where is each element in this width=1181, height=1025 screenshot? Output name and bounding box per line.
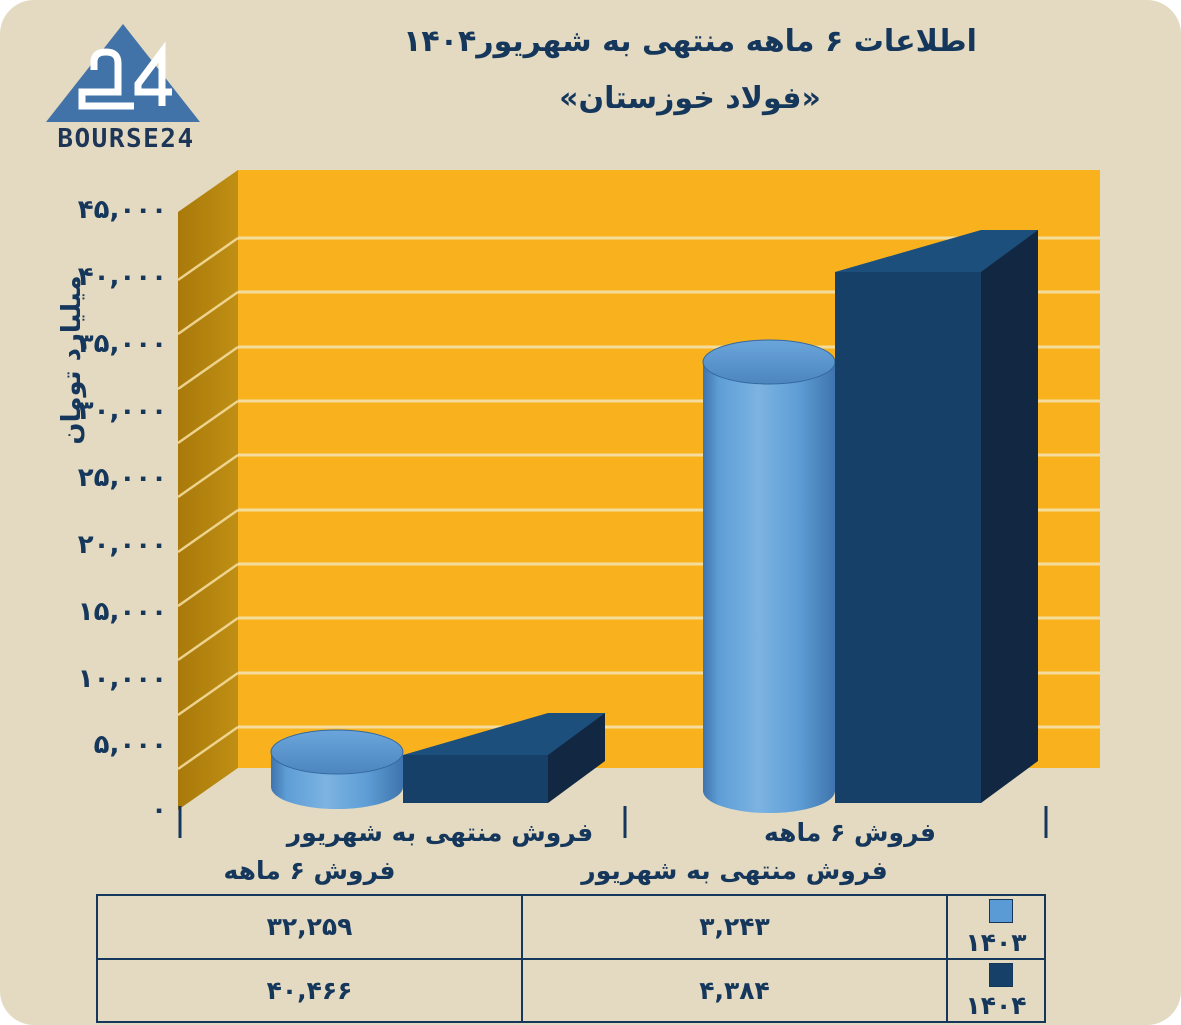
table-header-col-1: فروش ۶ ماهه	[97, 847, 522, 895]
legend-key-1404: ۱۴۰۴	[947, 959, 1045, 1023]
table-header-col-0: فروش منتهی به شهریور	[522, 847, 947, 895]
bar-1403-group1	[271, 730, 403, 809]
bar-1403-group2	[703, 340, 835, 813]
legend-label-1404: ۱۴۰۴	[965, 991, 1026, 1020]
cell-1404-sales-6month: ۴۰,۴۶۶	[97, 959, 522, 1023]
category-label-1: فروش ۶ ماهه	[650, 818, 1050, 847]
table-header-row: فروش منتهی به شهریور فروش ۶ ماهه	[97, 847, 1045, 895]
table-header-blank	[947, 847, 1045, 895]
bar-1404-group2	[835, 230, 1038, 803]
ytick-0: ۰	[0, 795, 167, 825]
cell-1403-sales-to-shahrivar: ۳,۲۴۳	[522, 895, 947, 959]
legend-key-1403: ۱۴۰۳	[947, 895, 1045, 959]
y-axis-title: میلیارد تومان	[57, 230, 87, 490]
chart-left-wall	[178, 170, 238, 810]
table-row: ۱۴۰۳ ۳,۲۴۳ ۳۲,۲۵۹	[97, 895, 1045, 959]
ytick-45000: ۴۵,۰۰۰	[0, 195, 167, 225]
chart-card: BOURSE24 اطلاعات ۶ ماهه منتهی به شهریور۱…	[0, 0, 1181, 1025]
category-label-0: فروش منتهی به شهریور	[230, 818, 650, 847]
ytick-20000: ۲۰,۰۰۰	[0, 530, 167, 560]
data-table: فروش منتهی به شهریور فروش ۶ ماهه ۱۴۰۳ ۳,…	[96, 847, 1046, 1023]
ytick-15000: ۱۵,۰۰۰	[0, 597, 167, 627]
legend-swatch-1403	[989, 899, 1013, 923]
legend-label-1403: ۱۴۰۳	[965, 928, 1026, 957]
legend-swatch-1404	[989, 963, 1013, 987]
ytick-5000: ۵,۰۰۰	[0, 730, 167, 760]
ytick-10000: ۱۰,۰۰۰	[0, 664, 167, 694]
cell-1403-sales-6month: ۳۲,۲۵۹	[97, 895, 522, 959]
cell-1404-sales-to-shahrivar: ۴,۳۸۴	[522, 959, 947, 1023]
table-row: ۱۴۰۴ ۴,۳۸۴ ۴۰,۴۶۶	[97, 959, 1045, 1023]
